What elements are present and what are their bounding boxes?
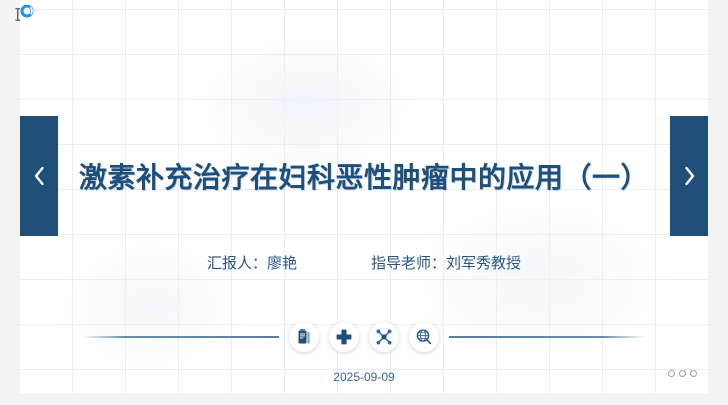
presenter-text: 汇报人：廖艳 xyxy=(207,252,297,273)
next-slide-button[interactable] xyxy=(670,116,708,236)
divider-line-left xyxy=(82,336,279,338)
globe-research-icon xyxy=(409,322,439,352)
icon-divider-strip xyxy=(20,322,708,352)
clipboard-report-icon xyxy=(289,322,319,352)
slide-title: 激素补充治疗在妇科恶性肿瘤中的应用（一） xyxy=(79,156,649,196)
chevron-right-icon xyxy=(682,164,697,188)
slide-date: 2025-09-09 xyxy=(20,370,708,384)
divider-line-right xyxy=(449,336,646,338)
dot-1 xyxy=(668,370,675,377)
chevron-left-icon xyxy=(32,164,47,188)
molecule-network-icon xyxy=(369,322,399,352)
byline-row: 汇报人：廖艳 指导老师：刘军秀教授 xyxy=(20,252,708,273)
more-options-button[interactable] xyxy=(668,370,697,377)
icon-cluster xyxy=(289,322,439,352)
advisor-text: 指导老师：刘军秀教授 xyxy=(371,252,521,273)
previous-slide-button[interactable] xyxy=(20,116,58,236)
presentation-viewer: 激素补充治疗在妇科恶性肿瘤中的应用（一） 汇报人：廖艳 指导老师：刘军秀教授 xyxy=(0,0,728,405)
medical-cross-icon xyxy=(329,322,359,352)
slide-canvas[interactable]: 激素补充治疗在妇科恶性肿瘤中的应用（一） 汇报人：廖艳 指导老师：刘军秀教授 xyxy=(20,0,708,393)
title-row: 激素补充治疗在妇科恶性肿瘤中的应用（一） xyxy=(20,143,708,209)
dot-2 xyxy=(679,370,686,377)
dot-3 xyxy=(690,370,697,377)
